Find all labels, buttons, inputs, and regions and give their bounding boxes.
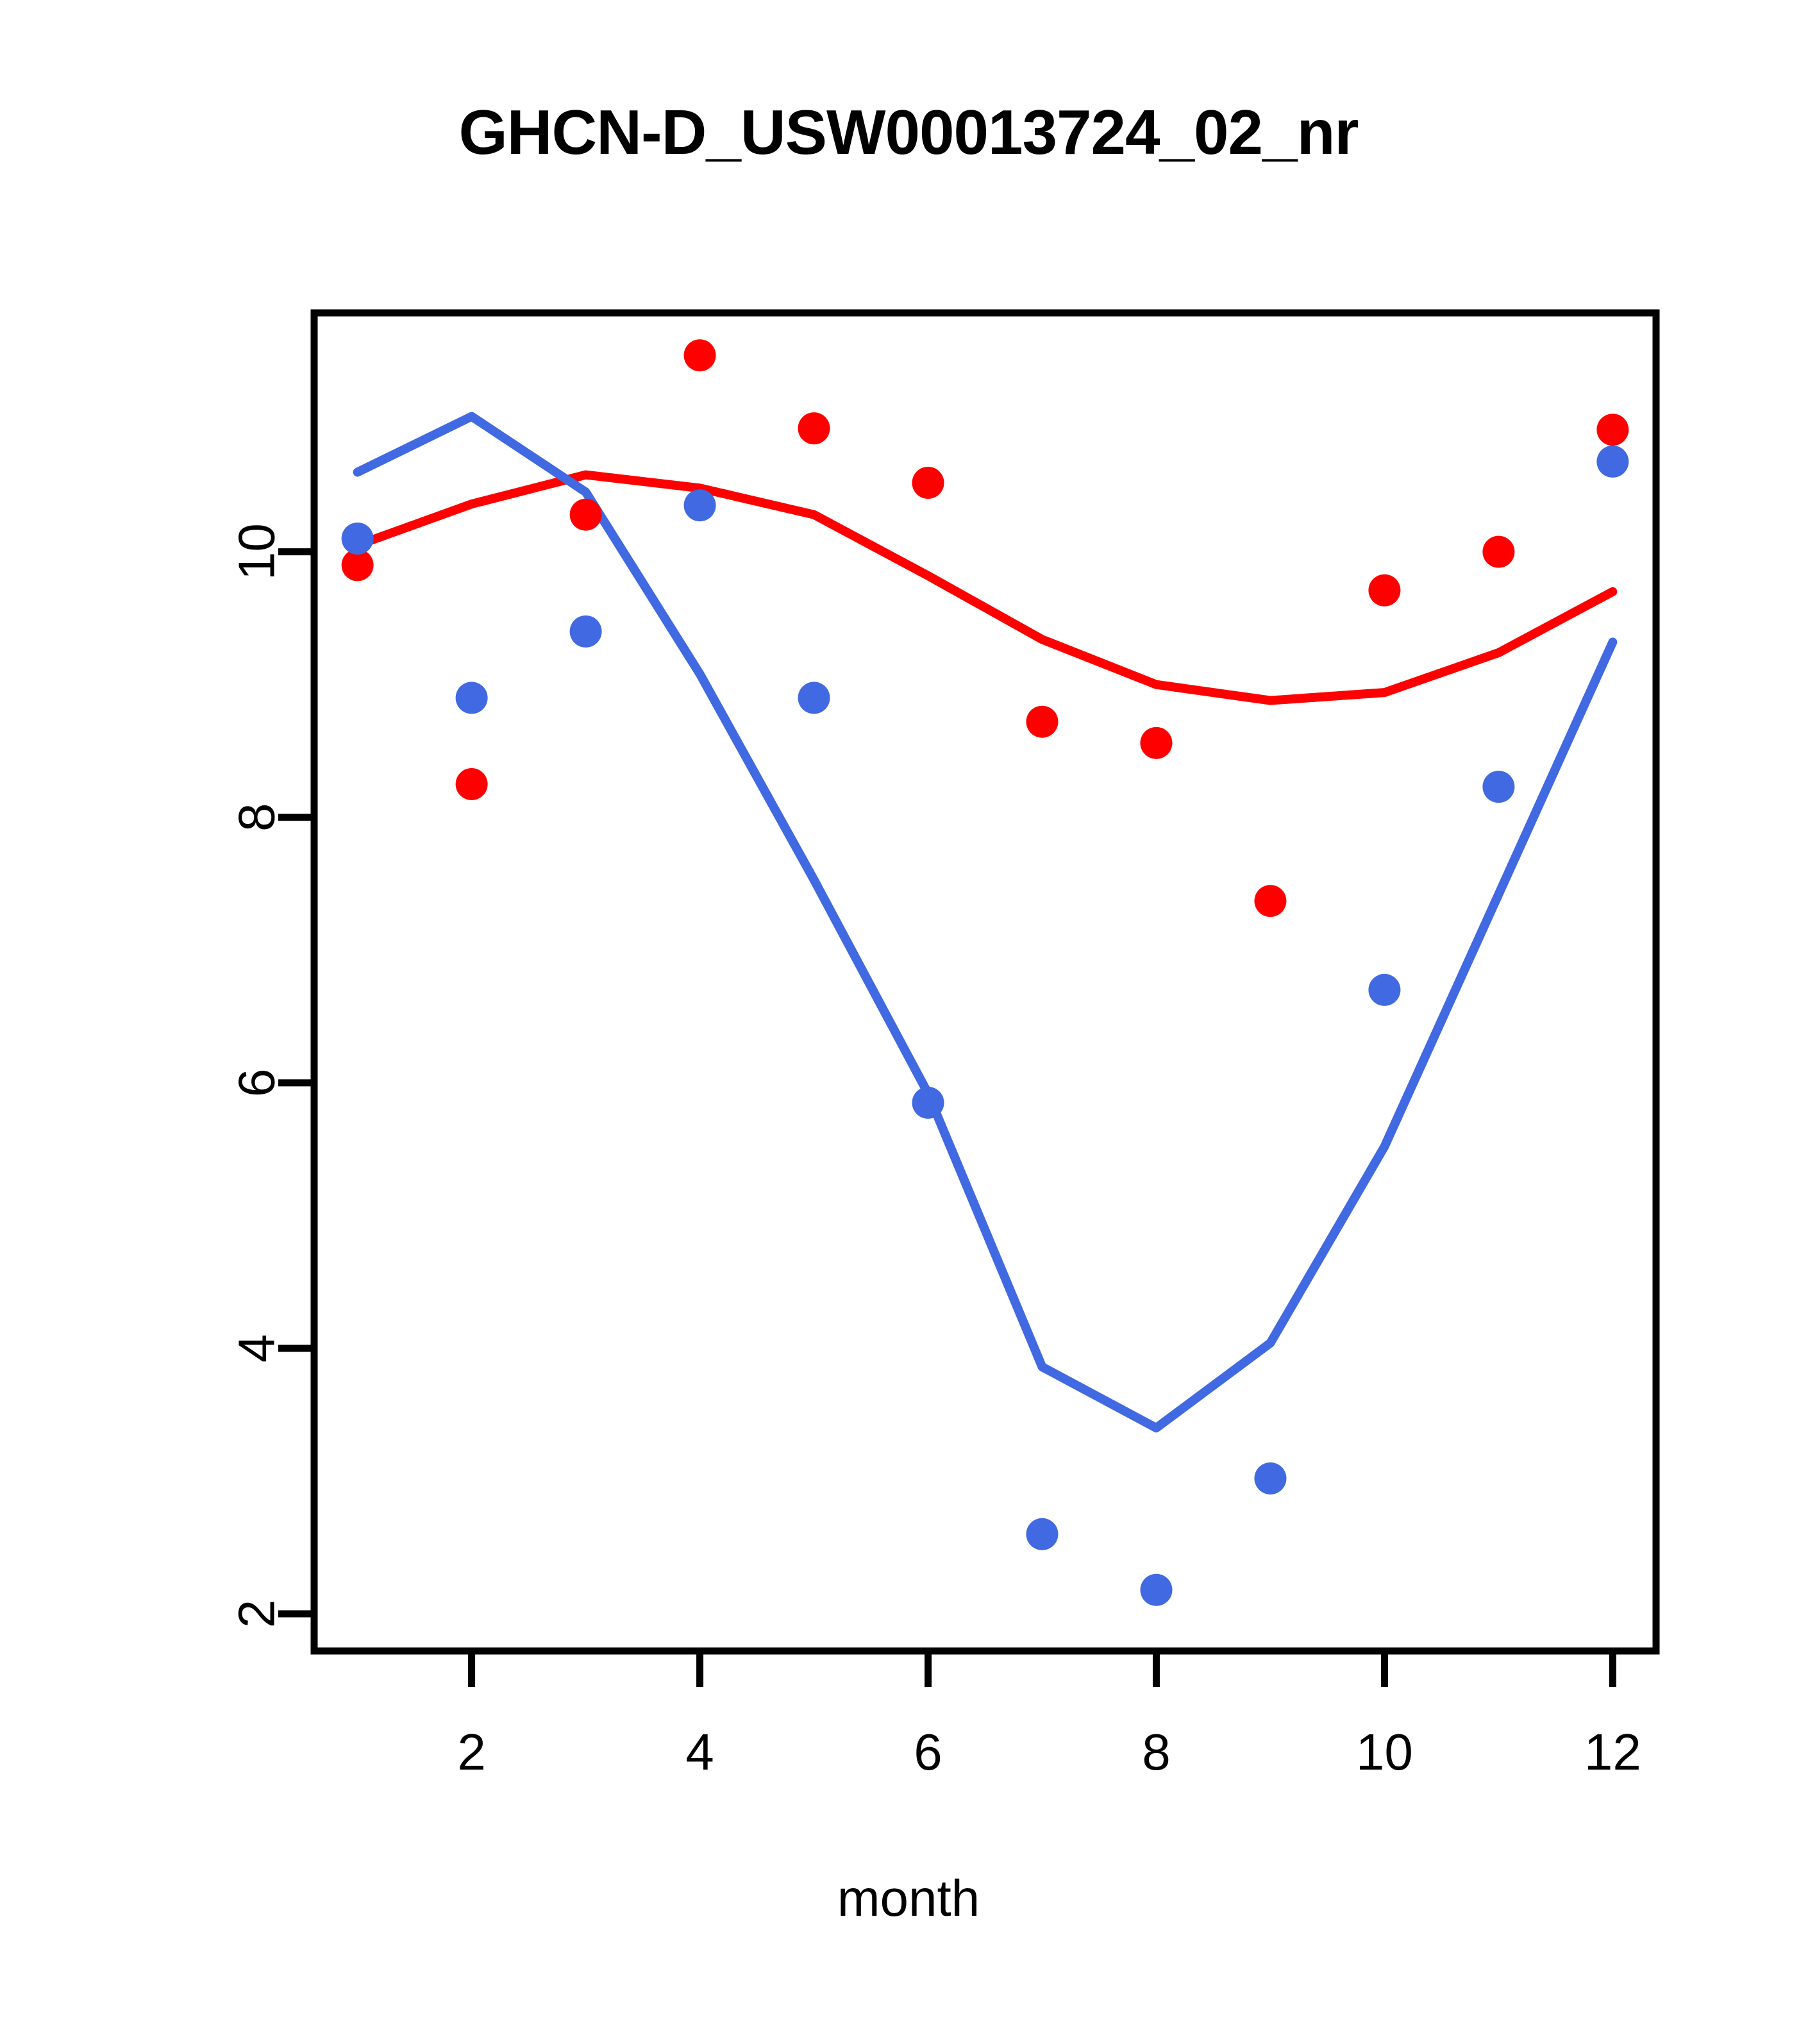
data-point-blue-points [342,523,374,555]
y-tick-label: 2 [228,1600,285,1629]
data-point-red-points [1026,706,1058,738]
x-axis-ticks: 24681012 [457,1651,1641,1780]
y-tick-label: 8 [228,803,285,832]
data-point-blue-points [570,616,602,648]
data-point-blue-points [456,682,488,714]
data-point-blue-points [1482,771,1514,803]
data-point-red-points [798,412,830,444]
data-point-red-points [912,467,944,499]
series-line-red-line [358,475,1613,701]
data-point-blue-points [684,489,716,521]
data-point-red-points [1596,414,1629,446]
series-lines [358,416,1613,1428]
y-tick-label: 6 [228,1069,285,1098]
data-point-red-points [570,499,602,531]
data-point-blue-points [1254,1462,1286,1495]
data-point-blue-points [1140,1574,1172,1606]
x-tick-label: 4 [685,1723,714,1780]
x-tick-label: 2 [457,1723,486,1780]
x-tick-label: 12 [1584,1723,1641,1780]
x-tick-label: 10 [1356,1723,1413,1780]
series-line-blue-line [358,416,1613,1428]
x-tick-label: 6 [914,1723,942,1780]
chart-figure: GHCN-D_USW00013724_02_nr 246810 24681012… [0,0,1817,2044]
data-point-blue-points [798,682,830,714]
plot-area: 246810 24681012 [0,0,1817,2044]
data-point-blue-points [1368,974,1400,1006]
data-point-red-points [1482,536,1514,568]
data-point-blue-points [1596,446,1629,478]
y-axis-ticks: 246810 [228,523,315,1628]
y-tick-label: 10 [228,523,285,580]
data-point-red-points [1368,574,1400,607]
data-point-red-points [1140,727,1172,759]
x-axis-label: month [0,1869,1817,1928]
series-points [342,339,1629,1606]
y-tick-label: 4 [228,1334,285,1363]
data-point-red-points [684,339,716,371]
data-point-blue-points [912,1087,944,1119]
x-tick-label: 8 [1142,1723,1171,1780]
data-point-red-points [456,768,488,800]
data-point-blue-points [1026,1518,1058,1550]
data-point-red-points [1254,885,1286,917]
